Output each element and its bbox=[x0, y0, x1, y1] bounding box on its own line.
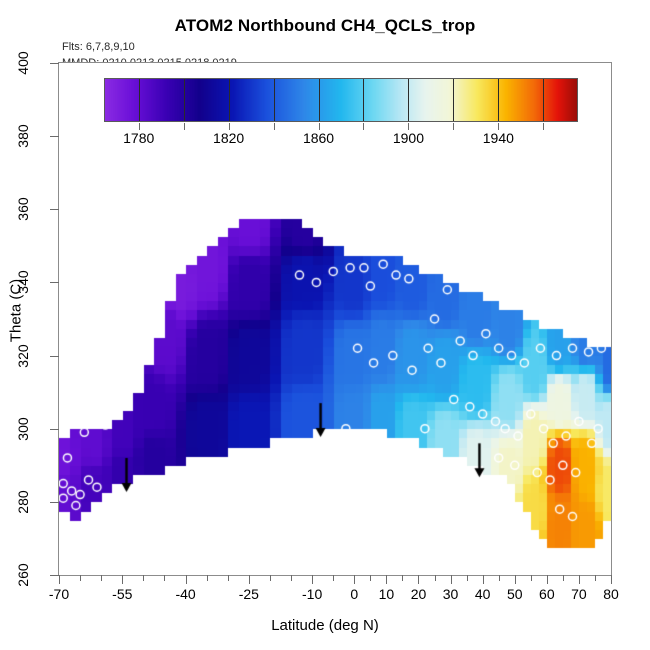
colorbar-tick bbox=[319, 123, 320, 130]
y-tick-major bbox=[50, 282, 59, 283]
colorbar-tick bbox=[229, 123, 230, 130]
x-tick-major bbox=[312, 575, 313, 584]
colorbar-tick bbox=[498, 123, 499, 130]
x-axis-tick-label: -40 bbox=[156, 586, 216, 602]
x-tick-minor bbox=[370, 575, 371, 581]
x-tick-minor bbox=[563, 575, 564, 581]
x-tick-major bbox=[249, 575, 250, 584]
x-tick-major bbox=[515, 575, 516, 584]
x-tick-minor bbox=[402, 575, 403, 581]
y-axis-tick-label: 360 bbox=[1, 187, 45, 231]
x-axis-tick-label: -55 bbox=[92, 586, 152, 602]
x-axis-title: Latitude (deg N) bbox=[0, 617, 650, 634]
y-axis-tick-label: 400 bbox=[1, 41, 45, 85]
y-tick-major bbox=[50, 209, 59, 210]
x-tick-minor bbox=[164, 575, 165, 581]
flights-annotation: Flts: 6,7,8,9,10 bbox=[62, 41, 135, 53]
y-tick-major bbox=[50, 356, 59, 357]
x-tick-minor bbox=[228, 575, 229, 581]
x-tick-major bbox=[186, 575, 187, 584]
colorbar-separator bbox=[498, 79, 499, 121]
colorbar-separator bbox=[139, 79, 140, 121]
y-tick-major bbox=[50, 429, 59, 430]
plot-root: ATOM2 Northbound CH4_QCLS_trop Flts: 6,7… bbox=[0, 0, 650, 650]
x-tick-minor bbox=[143, 575, 144, 581]
colorbar-separator bbox=[229, 79, 230, 121]
x-axis-tick-label: 80 bbox=[581, 586, 641, 602]
x-tick-major bbox=[354, 575, 355, 584]
colorbar-label: 1940 bbox=[458, 130, 538, 146]
x-tick-major bbox=[122, 575, 123, 584]
colorbar-tick bbox=[543, 123, 544, 130]
y-axis-tick-label: 280 bbox=[1, 480, 45, 524]
x-tick-minor bbox=[80, 575, 81, 581]
y-tick-major bbox=[50, 136, 59, 137]
colorbar-separator bbox=[274, 79, 275, 121]
y-tick-major bbox=[50, 63, 59, 64]
x-tick-major bbox=[59, 575, 60, 584]
colorbar-separator bbox=[453, 79, 454, 121]
y-axis-tick-label: 380 bbox=[1, 114, 45, 158]
x-tick-minor bbox=[207, 575, 208, 581]
y-tick-major bbox=[50, 502, 59, 503]
x-tick-major bbox=[386, 575, 387, 584]
y-tick-major bbox=[50, 575, 59, 576]
x-tick-minor bbox=[101, 575, 102, 581]
y-axis-tick-label: 300 bbox=[1, 407, 45, 451]
x-tick-minor bbox=[291, 575, 292, 581]
colorbar-label: 1860 bbox=[279, 130, 359, 146]
x-tick-minor bbox=[435, 575, 436, 581]
colorbar-tick bbox=[184, 123, 185, 130]
x-tick-minor bbox=[270, 575, 271, 581]
colorbar-label: 1780 bbox=[99, 130, 179, 146]
colorbar-separator bbox=[408, 79, 409, 121]
x-tick-major bbox=[418, 575, 419, 584]
colorbar-separator bbox=[319, 79, 320, 121]
x-tick-major bbox=[547, 575, 548, 584]
colorbar-separator bbox=[543, 79, 544, 121]
y-axis-title: Theta (C) bbox=[8, 231, 25, 391]
colorbar-separator bbox=[184, 79, 185, 121]
colorbar-label: 1820 bbox=[189, 130, 269, 146]
colorbar-tick bbox=[408, 123, 409, 130]
colorbar-tick bbox=[139, 123, 140, 130]
x-tick-minor bbox=[595, 575, 596, 581]
x-tick-major bbox=[483, 575, 484, 584]
x-tick-minor bbox=[499, 575, 500, 581]
x-axis-tick-label: -25 bbox=[219, 586, 279, 602]
x-tick-major bbox=[451, 575, 452, 584]
colorbar-label: 1900 bbox=[368, 130, 448, 146]
page-title: ATOM2 Northbound CH4_QCLS_trop bbox=[0, 16, 650, 36]
x-tick-major bbox=[579, 575, 580, 584]
colorbar-separator bbox=[363, 79, 364, 121]
colorbar-tick bbox=[274, 123, 275, 130]
colorbar-tick bbox=[363, 123, 364, 130]
colorbar-border bbox=[104, 78, 578, 122]
x-tick-minor bbox=[531, 575, 532, 581]
colorbar-tick bbox=[453, 123, 454, 130]
y-axis-tick-label: 260 bbox=[1, 553, 45, 597]
x-tick-major bbox=[611, 575, 612, 584]
x-tick-minor bbox=[467, 575, 468, 581]
x-tick-minor bbox=[333, 575, 334, 581]
